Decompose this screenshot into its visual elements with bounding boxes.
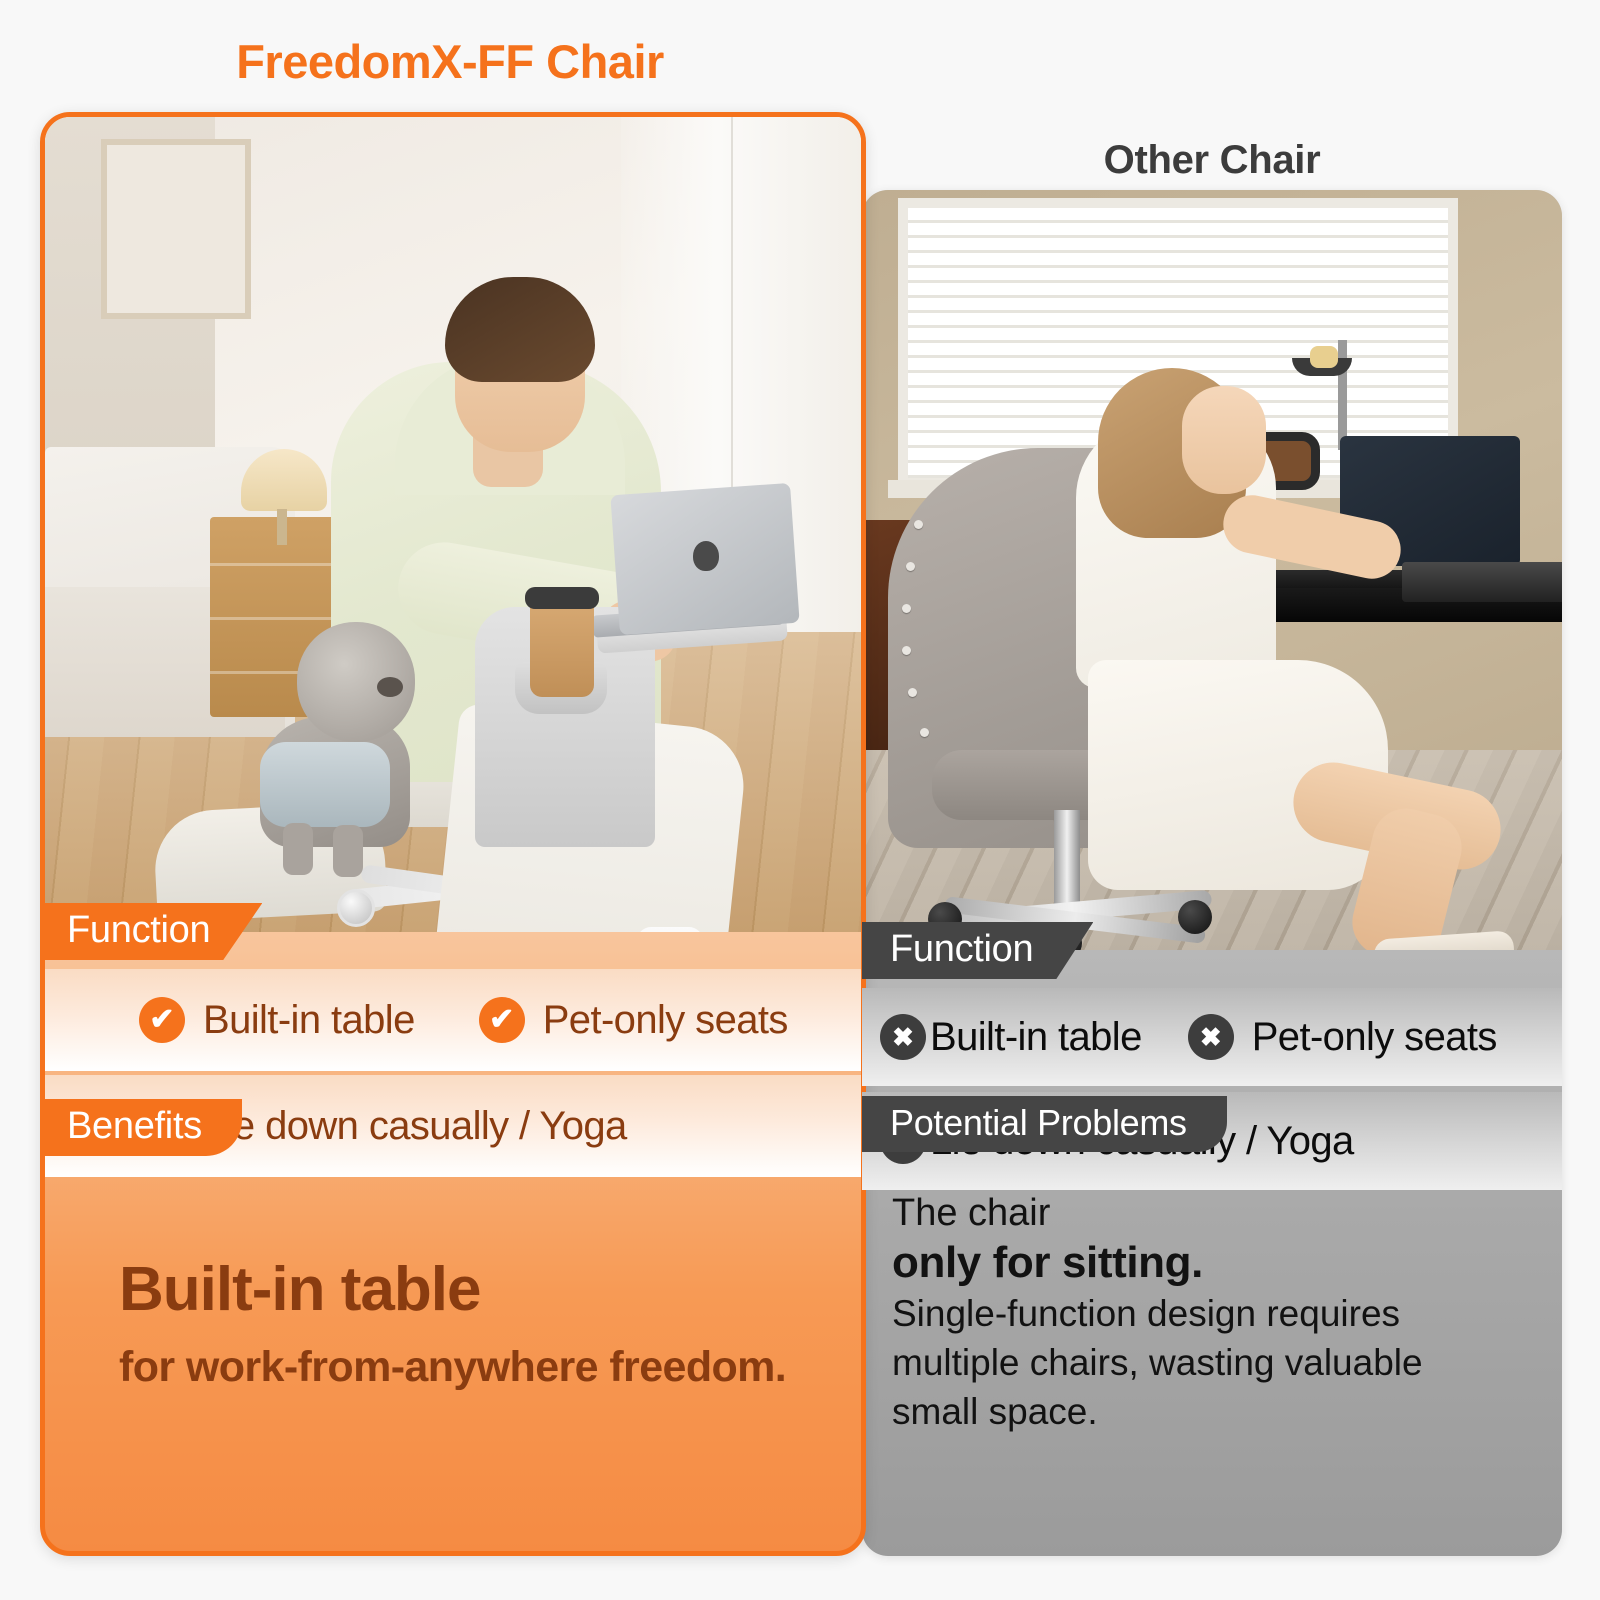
left-feature-label: Pet-only seats [543,998,788,1043]
picture-frame [101,139,251,319]
chair-caster [337,889,375,927]
study-room-scene [862,190,1562,950]
other-chair-panel: Function ✖ Built-in table ✖ Pet-only sea… [862,190,1562,1556]
chair-stud [920,728,929,737]
freedomx-chair-photo [45,117,861,932]
dog-coat [260,742,390,827]
desk-lamp-bulb [1310,346,1338,368]
desk-lamp-arm [1338,340,1347,450]
coffee-cup-lid [525,587,599,609]
right-function-tag: Function [862,922,1093,979]
problem-line-2: only for sitting. [892,1236,1512,1290]
freedomx-panel-title: FreedomX-FF Chair [40,34,860,89]
benefit-subline: for work-from-anywhere freedom. [119,1340,819,1395]
left-feature-row-1: ✔ Built-in table ✔ Pet-only seats [45,969,861,1071]
dog-nose [377,677,403,697]
chair-stud [906,562,915,571]
apple-logo-icon [693,541,719,571]
sock [637,927,703,932]
left-benefits-tag: Benefits [45,1099,242,1156]
chair-stud [902,646,911,655]
right-problems-tag: Potential Problems [862,1096,1227,1152]
right-feature-label: Built-in table [930,1015,1142,1060]
face [1182,386,1266,494]
other-chair-photo [862,190,1562,950]
left-function-tag: Function [45,903,262,960]
midi-keyboard [1402,562,1562,602]
left-feature-label: Lie down casually / Yoga [203,1104,627,1149]
comparison-infographic: Other Chair [0,0,1600,1600]
coffee-cup [530,597,594,697]
table-lamp-stem [277,509,287,545]
problem-line-3: Single-function design requires multiple… [892,1290,1512,1436]
benefit-headline: Built-in table [119,1257,819,1322]
check-icon: ✔ [479,997,525,1043]
cross-icon: ✖ [1188,1014,1234,1060]
check-icon: ✔ [139,997,185,1043]
right-panel-title: Other Chair [862,138,1562,183]
right-feature-label: Pet-only seats [1252,1015,1497,1060]
right-problems-copy: The chair only for sitting. Single-funct… [892,1190,1512,1437]
left-feature-label: Built-in table [203,998,415,1043]
problem-line-1: The chair [892,1190,1512,1236]
right-feature-row-1: ✖ Built-in table ✖ Pet-only seats [862,988,1562,1086]
chair-stud [914,520,923,529]
chair-stud [902,604,911,613]
bedroom-scene [45,117,861,932]
freedomx-chair-panel: Function ✔ Built-in table ✔ Pet-only sea… [40,112,866,1556]
cross-icon: ✖ [880,1014,926,1060]
dog-leg [333,825,363,877]
chair-caster [1178,900,1212,934]
dog-leg [283,823,313,875]
left-benefits-copy: Built-in table for work-from-anywhere fr… [119,1257,819,1395]
chair-stud [908,688,917,697]
